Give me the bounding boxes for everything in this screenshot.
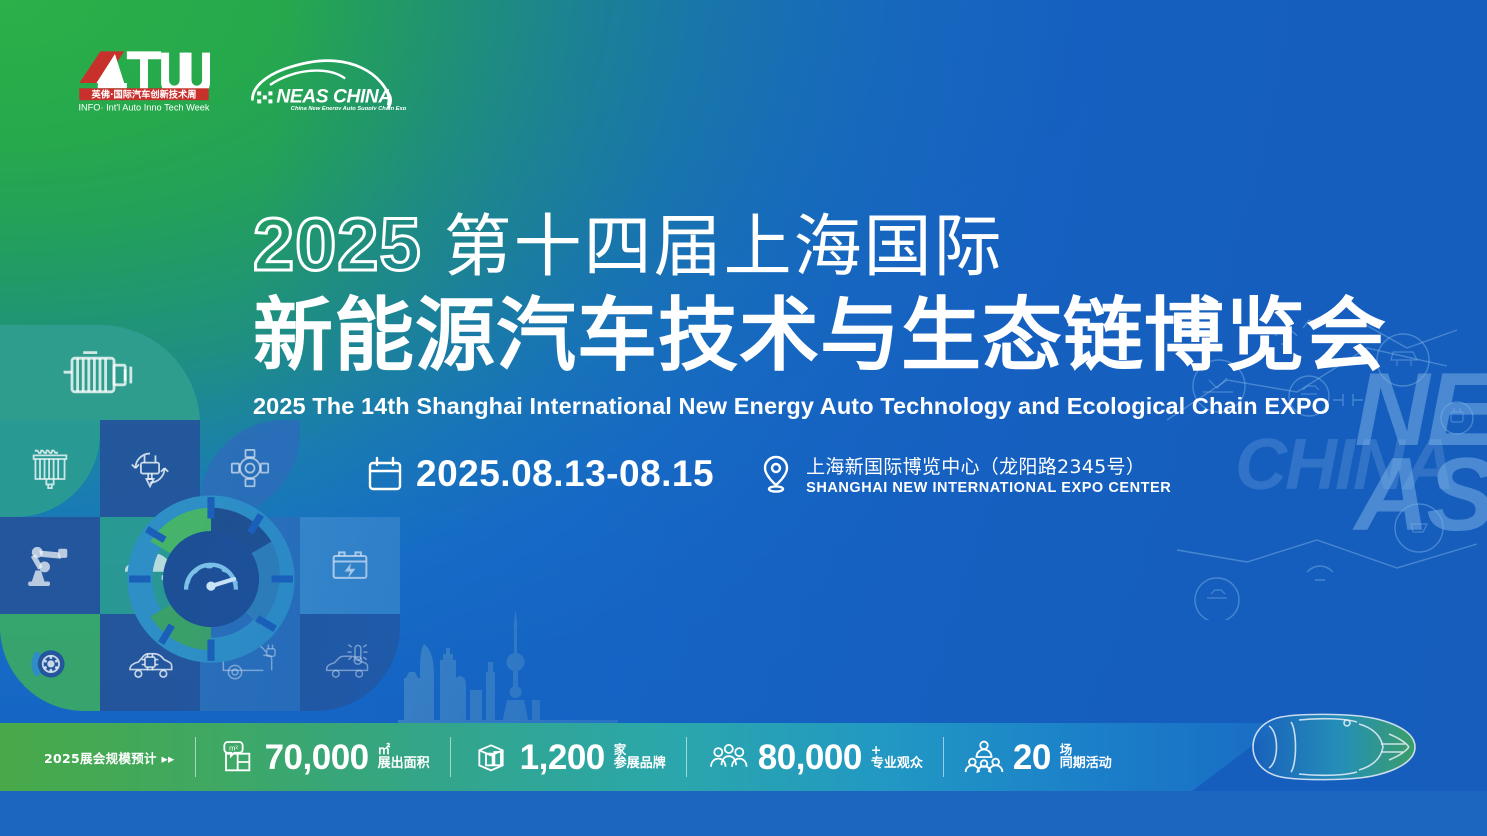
stat-visitors: 80,000 + 专业观众 — [707, 739, 923, 775]
electric-motor-icon — [55, 347, 145, 403]
venue-item: 上海新国际博览中心（龙阳路2345号） SHANGHAI NEW INTERNA… — [760, 452, 1171, 496]
thermal-car-icon — [320, 633, 380, 691]
atuw-logo[interactable]: 英佛·国际汽车创新技术周 INFO· Int'l Auto Inno Tech … — [78, 50, 210, 113]
expo-banner: CHINA NE AS 英佛·国际汽车创新技术周 INFO· Int'l Aut… — [0, 0, 1487, 836]
wheel-hub-icon — [220, 439, 280, 497]
stat-events-value: 20 — [1013, 740, 1051, 775]
headline-line1: 2025 第十四届上海国际 — [253, 208, 1373, 282]
venue-cn: 上海新国际博览中心（龙阳路2345号） — [806, 452, 1171, 479]
stat-visitors-sup: + — [871, 743, 923, 757]
date-text: 2025.08.13-08.15 — [416, 453, 714, 495]
mosaic-tile-electric-motor — [0, 325, 200, 425]
stat-visitors-label: 专业观众 — [871, 757, 923, 772]
visitors-icon — [707, 739, 749, 775]
battery-icon — [320, 536, 380, 594]
floorplan-icon: m² — [216, 737, 256, 777]
map-pin-icon — [760, 454, 792, 494]
divider-1 — [195, 737, 196, 777]
date-item: 2025.08.13-08.15 — [368, 453, 714, 495]
gauge-gear-graphic — [122, 490, 300, 668]
divider-4 — [943, 737, 944, 777]
mosaic-tile-brake-disc — [0, 614, 100, 711]
neas-tagline: China New Energy Auto Supply Chain Expo — [291, 106, 406, 111]
shanghai-skyline — [398, 604, 618, 724]
calendar-icon — [368, 456, 402, 492]
headline-line1-cn: 第十四届上海国际 — [444, 214, 1004, 282]
stat-events-tail: 场 同期活动 — [1060, 743, 1112, 772]
stat-brands: 1,200 家 参展品牌 — [471, 737, 666, 777]
stat-events: 20 场 同期活动 — [964, 738, 1112, 776]
mosaic-tile-robot-arm — [0, 517, 100, 614]
logo-row: 英佛·国际汽车创新技术周 INFO· Int'l Auto Inno Tech … — [78, 50, 406, 113]
stat-events-unit: 场 — [1060, 743, 1112, 757]
stat-brands-label: 参展品牌 — [614, 757, 666, 772]
svg-text:m²: m² — [229, 743, 238, 752]
car-topview-outline — [1239, 708, 1429, 786]
divider-2 — [450, 737, 451, 777]
charging-plug-icon — [120, 439, 180, 497]
radiator-icon — [20, 439, 80, 497]
stat-area-unit: ㎡ — [378, 743, 430, 757]
mosaic-tile-thermal-car — [300, 614, 400, 711]
headline-year: 2025 — [253, 208, 422, 282]
booth-icon — [471, 737, 511, 777]
stat-visitors-tail: + 专业观众 — [871, 743, 923, 772]
neas-wordmark: NEAS CHINA — [276, 86, 391, 107]
meta-row: 2025.08.13-08.15 上海新国际博览中心（龙阳路2345号） SHA… — [368, 452, 1171, 496]
stat-area-tail: ㎡ 展出面积 — [378, 743, 430, 772]
watermark-neas-line2: AS — [1355, 453, 1487, 538]
headline-block: 2025 第十四届上海国际 新能源汽车技术与生态链博览会 2025 The 14… — [253, 208, 1373, 420]
gauge-gear-icon — [122, 490, 300, 668]
stat-events-label: 同期活动 — [1060, 757, 1112, 772]
stat-brands-value: 1,200 — [520, 740, 605, 775]
forum-icon — [964, 738, 1004, 776]
headline-line3-en: 2025 The 14th Shanghai International New… — [253, 393, 1373, 420]
bottom-strip — [0, 791, 1487, 836]
venue-en: SHANGHAI NEW INTERNATIONAL EXPO CENTER — [806, 480, 1171, 496]
robot-arm-icon — [20, 536, 80, 594]
stat-area-value: 70,000 — [265, 740, 369, 775]
atuw-en-text: INFO· Int'l Auto Inno Tech Week — [78, 103, 209, 113]
mosaic-tile-battery — [300, 517, 400, 614]
headline-line2-cn: 新能源汽车技术与生态链博览会 — [253, 294, 1373, 379]
stat-visitors-value: 80,000 — [758, 740, 862, 775]
stat-area-label: 展出面积 — [378, 757, 430, 772]
neas-china-logo[interactable]: NEAS CHINA China New Energy Auto Supply … — [246, 53, 406, 111]
atuw-cn-text: 英佛·国际汽车创新技术周 — [92, 89, 197, 101]
stat-brands-unit: 家 — [614, 743, 666, 757]
divider-3 — [686, 737, 687, 777]
mosaic-tile-radiator — [0, 420, 100, 517]
brake-disc-icon — [20, 633, 80, 691]
stats-bar: 2025展会规模预计 ▸▸ m² 70,000 ㎡ 展出面积 — [0, 723, 1282, 791]
stats-prefix: 2025展会规模预计 ▸▸ — [44, 748, 175, 767]
venue-text-block: 上海新国际博览中心（龙阳路2345号） SHANGHAI NEW INTERNA… — [806, 452, 1171, 496]
stat-exhibition-area: m² 70,000 ㎡ 展出面积 — [216, 737, 430, 777]
stat-brands-tail: 家 参展品牌 — [614, 743, 666, 772]
